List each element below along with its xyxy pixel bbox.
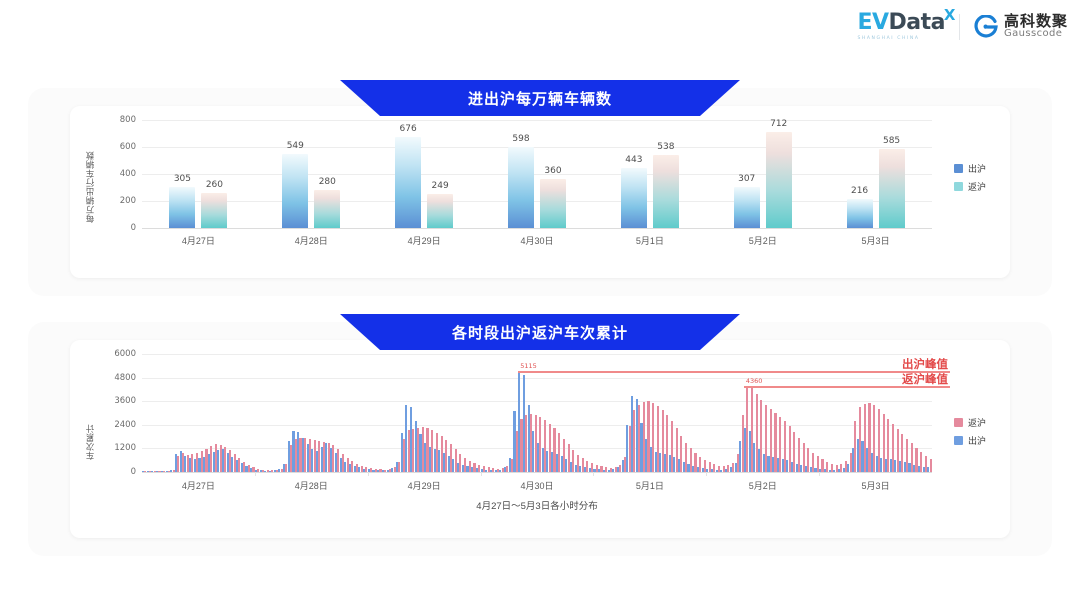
chart-legend: 返沪出沪 xyxy=(954,416,986,447)
gausscode-mark-icon xyxy=(974,15,998,39)
legend-swatch xyxy=(954,436,963,445)
chart-card-2: 车次累计0120024003600480060004月27日4月28日4月29日… xyxy=(70,340,1010,538)
bar-返沪-4月29日 xyxy=(427,194,453,228)
gridline xyxy=(142,201,932,202)
bar-返沪-4月30日 xyxy=(540,179,566,228)
peak-value-out: 5115 xyxy=(520,362,537,370)
x-axis-tick: 4月30日 xyxy=(520,479,553,492)
day-separator-tick xyxy=(481,472,482,476)
bar-出沪-4月27日 xyxy=(169,187,195,228)
chart-panel-1: 每万辆出行车辆数02004006008003052604月27日5492804月… xyxy=(28,88,1052,296)
day-separator-tick xyxy=(819,472,820,476)
bar-返沪-4月27日 xyxy=(201,193,227,228)
legend-label: 出沪 xyxy=(968,434,986,447)
logo-group: EVData X SHANGHAI CHINA 高科数聚 Gausscode xyxy=(857,12,1068,41)
bar-出沪-4月29日 xyxy=(395,137,421,228)
x-axis-tick: 5月3日 xyxy=(862,234,890,247)
y-axis-tick: 200 xyxy=(100,196,136,206)
section-banner-2: 各时段出沪返沪车次累计 xyxy=(340,314,740,350)
gridline xyxy=(142,425,932,426)
y-axis-tick: 400 xyxy=(100,169,136,179)
gridline xyxy=(142,120,932,121)
gausscode-logo: 高科数聚 Gausscode xyxy=(974,14,1068,39)
day-separator-tick xyxy=(255,472,256,476)
x-axis-tick: 4月29日 xyxy=(408,479,441,492)
bar-出沪-5月3日 xyxy=(847,199,873,228)
chart-legend: 出沪返沪 xyxy=(954,162,986,193)
x-axis-line xyxy=(142,228,932,229)
gridline xyxy=(142,401,932,402)
x-axis-tick: 4月28日 xyxy=(295,234,328,247)
legend-swatch xyxy=(954,182,963,191)
gridline xyxy=(142,147,932,148)
legend-label: 出沪 xyxy=(968,162,986,175)
bar-chart-hourly-trips: 车次累计0120024003600480060004月27日4月28日4月29日… xyxy=(70,340,1010,538)
x-axis-tick: 5月2日 xyxy=(749,234,777,247)
x-axis-tick: 4月27日 xyxy=(182,479,215,492)
section-title-1: 进出沪每万辆车辆数 xyxy=(468,88,612,109)
gridline xyxy=(142,174,932,175)
bar-value-label: 307 xyxy=(738,174,755,184)
x-axis-tick: 5月2日 xyxy=(749,479,777,492)
bar-value-label: 598 xyxy=(512,134,529,144)
y-axis-tick: 3600 xyxy=(100,396,136,406)
bar-value-label: 538 xyxy=(657,142,674,152)
bar-value-label: 260 xyxy=(206,180,223,190)
legend-swatch xyxy=(954,418,963,427)
legend-item-返沪[interactable]: 返沪 xyxy=(954,416,986,429)
logo-divider xyxy=(959,14,960,40)
gausscode-text: 高科数聚 Gausscode xyxy=(1004,14,1068,39)
bar-chart-vehicles: 每万辆出行车辆数02004006008003052604月27日5492804月… xyxy=(70,106,1010,278)
bar-返沪-4月28日 xyxy=(314,190,340,228)
section-title-2: 各时段出沪返沪车次累计 xyxy=(452,322,628,343)
hourly-bar-ret xyxy=(930,459,932,472)
gridline xyxy=(142,378,932,379)
day-separator-tick xyxy=(706,472,707,476)
y-axis-tick: 6000 xyxy=(100,349,136,359)
peak-title-out: 出沪峰值 xyxy=(902,356,948,372)
bar-出沪-4月28日 xyxy=(282,154,308,228)
y-axis-tick: 1200 xyxy=(100,443,136,453)
bar-出沪-4月30日 xyxy=(508,147,534,228)
bar-value-label: 585 xyxy=(883,136,900,146)
legend-item-出沪[interactable]: 出沪 xyxy=(954,162,986,175)
x-axis-tick: 5月3日 xyxy=(862,479,890,492)
y-axis-tick: 800 xyxy=(100,115,136,125)
evdata-ev-text: EV xyxy=(857,10,888,35)
gausscode-cn-name: 高科数聚 xyxy=(1004,14,1068,29)
legend-item-出沪[interactable]: 出沪 xyxy=(954,434,986,447)
gausscode-en-name: Gausscode xyxy=(1004,29,1068,39)
bar-value-label: 249 xyxy=(432,181,449,191)
y-axis-tick: 4800 xyxy=(100,373,136,383)
chart-card-1: 每万辆出行车辆数02004006008003052604月27日5492804月… xyxy=(70,106,1010,278)
x-axis-caption: 4月27日～5月3日各小时分布 xyxy=(476,498,597,512)
bar-返沪-5月3日 xyxy=(879,149,905,228)
evdata-wordmark: EVData X xyxy=(857,12,945,34)
bar-value-label: 443 xyxy=(625,155,642,165)
bar-value-label: 549 xyxy=(287,141,304,151)
x-axis-tick: 5月1日 xyxy=(636,234,664,247)
bar-出沪-5月2日 xyxy=(734,187,760,228)
legend-swatch xyxy=(954,164,963,173)
legend-label: 返沪 xyxy=(968,416,986,429)
evdata-superscript-x: X xyxy=(944,8,955,23)
y-axis-tick: 600 xyxy=(100,142,136,152)
peak-title-ret: 返沪峰值 xyxy=(902,371,948,387)
legend-label: 返沪 xyxy=(968,180,986,193)
bar-value-label: 280 xyxy=(319,177,336,187)
bar-value-label: 360 xyxy=(544,166,561,176)
gridline xyxy=(142,354,932,355)
y-axis-label: 每万辆出行车辆数 xyxy=(84,130,96,223)
chart-panel-2: 车次累计0120024003600480060004月27日4月28日4月29日… xyxy=(28,322,1052,556)
legend-item-返沪[interactable]: 返沪 xyxy=(954,180,986,193)
bar-value-label: 712 xyxy=(770,119,787,129)
bar-value-label: 305 xyxy=(174,174,191,184)
y-axis-tick: 2400 xyxy=(100,420,136,430)
x-axis-tick: 4月30日 xyxy=(520,234,553,247)
page-header: EVData X SHANGHAI CHINA 高科数聚 Gausscode xyxy=(0,0,1080,62)
y-axis-label: 车次累计 xyxy=(84,382,96,460)
bar-返沪-5月1日 xyxy=(653,155,679,228)
y-axis-tick: 0 xyxy=(100,223,136,233)
x-axis-tick: 5月1日 xyxy=(636,479,664,492)
bar-value-label: 676 xyxy=(400,124,417,134)
x-axis-tick: 4月27日 xyxy=(182,234,215,247)
peak-value-ret: 4360 xyxy=(746,377,763,385)
day-separator-tick xyxy=(593,472,594,476)
bar-出沪-5月1日 xyxy=(621,168,647,228)
evdata-data-text: Data xyxy=(889,10,945,35)
bar-返沪-5月2日 xyxy=(766,132,792,228)
evdata-logo: EVData X SHANGHAI CHINA xyxy=(857,12,945,41)
evdata-tagline: SHANGHAI CHINA xyxy=(857,36,919,41)
x-axis-line xyxy=(142,472,932,473)
y-axis-tick: 0 xyxy=(100,467,136,477)
x-axis-tick: 4月28日 xyxy=(295,479,328,492)
x-axis-tick: 4月29日 xyxy=(408,234,441,247)
day-separator-tick xyxy=(368,472,369,476)
peak-line-out xyxy=(518,371,950,372)
bar-value-label: 216 xyxy=(851,186,868,196)
section-banner-1: 进出沪每万辆车辆数 xyxy=(340,80,740,116)
